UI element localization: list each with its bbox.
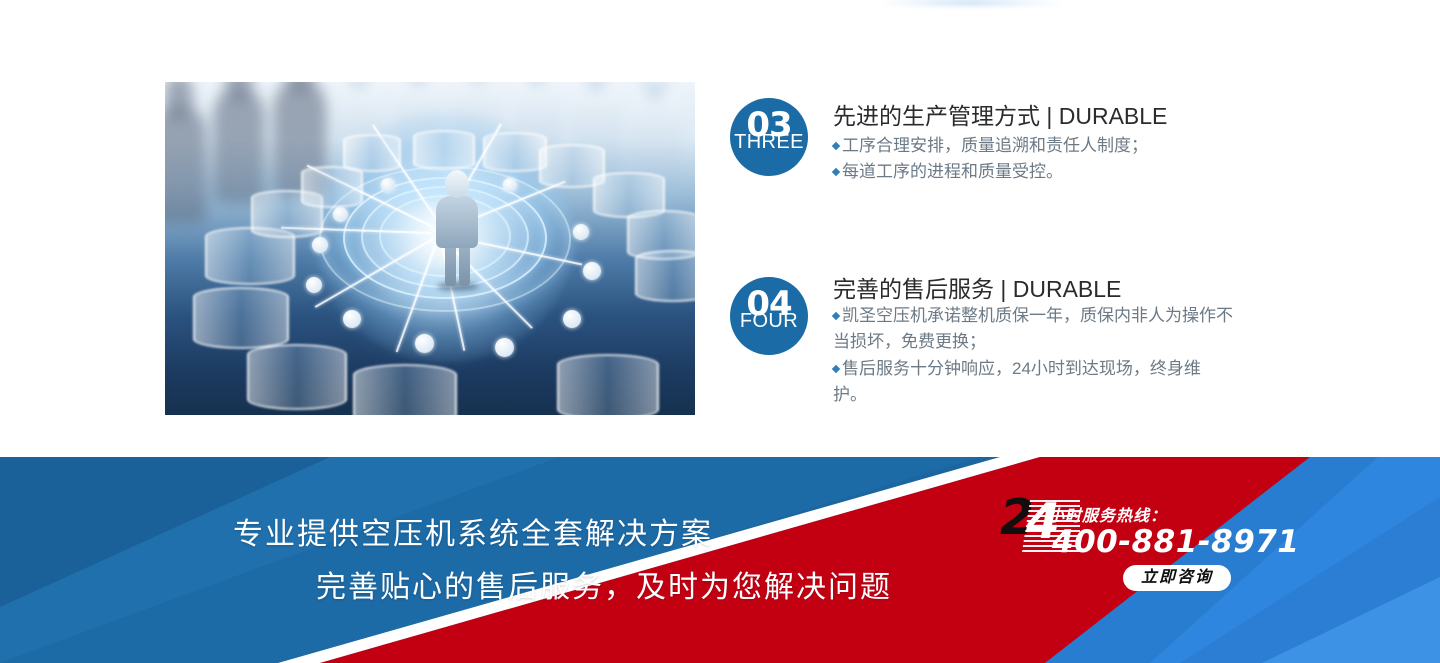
badge-word: FOUR	[730, 311, 808, 331]
silhouette-figure	[165, 104, 207, 224]
feature-bullet: 工序合理安排，质量追溯和责任人制度；	[833, 133, 1243, 159]
feature-title-04: 完善的售后服务 | DURABLE	[833, 270, 1121, 304]
node-cylinder	[301, 166, 363, 208]
feature-body-03: 工序合理安排，质量追溯和责任人制度； 每道工序的进程和质量受控。	[833, 133, 1243, 186]
hotline-label: 小时服务热线：	[1048, 502, 1167, 526]
network-connection-illustration	[165, 82, 695, 415]
connection-node	[306, 277, 322, 293]
diamond-bullet-icon	[832, 142, 840, 150]
central-person-figure	[433, 170, 481, 286]
silhouette-figure	[213, 86, 265, 204]
hotline-phone-number: 400-881-8971	[1052, 524, 1299, 560]
node-cylinder	[635, 250, 695, 302]
diamond-bullet-icon	[832, 312, 840, 320]
connection-node	[573, 224, 589, 240]
bottom-cta-banner: 专业提供空压机系统全套解决方案 完善贴心的售后服务，及时为您解决问题	[0, 457, 1440, 663]
connection-node	[333, 207, 348, 222]
node-cylinder	[247, 344, 347, 410]
page-root: 03 THREE 先进的生产管理方式 | DURABLE 工序合理安排，质量追溯…	[0, 0, 1440, 663]
feature-bullet: 售后服务十分钟响应，24小时到达现场，终身维护。	[833, 356, 1233, 409]
node-cylinder	[193, 287, 289, 349]
connection-node	[381, 178, 395, 192]
badge-number-04: 04 FOUR	[730, 277, 808, 355]
node-cylinder	[413, 130, 475, 170]
connection-node	[343, 310, 361, 328]
node-cylinder	[557, 354, 659, 415]
connection-node	[583, 262, 601, 280]
badge-word: THREE	[730, 132, 808, 152]
banner-headline-line-2: 完善贴心的售后服务，及时为您解决问题	[316, 562, 892, 606]
feature-bullet: 凯圣空压机承诺整机质保一年，质保内非人为操作不当损坏，免费更换；	[833, 303, 1233, 356]
diamond-bullet-icon	[832, 364, 840, 372]
feature-bullet: 每道工序的进程和质量受控。	[833, 159, 1243, 185]
node-cylinder	[343, 134, 401, 172]
connection-node	[563, 310, 581, 328]
feature-body-04: 凯圣空压机承诺整机质保一年，质保内非人为操作不当损坏，免费更换； 售后服务十分钟…	[833, 303, 1233, 408]
banner-headline-line-1: 专业提供空压机系统全套解决方案	[233, 509, 713, 553]
banner-background-shapes	[0, 457, 1440, 663]
connection-node	[312, 237, 328, 253]
top-edge-gradient-artifact	[880, 0, 1060, 6]
consult-now-button[interactable]: 立即咨询	[1123, 565, 1231, 591]
feature-title-03: 先进的生产管理方式 | DURABLE	[833, 97, 1167, 131]
diamond-bullet-icon	[832, 168, 840, 176]
badge-number-03: 03 THREE	[730, 98, 808, 176]
node-cylinder	[483, 132, 547, 172]
connection-node	[415, 334, 434, 353]
node-cylinder	[353, 364, 457, 415]
connection-node	[503, 178, 517, 192]
connection-node	[495, 338, 514, 357]
